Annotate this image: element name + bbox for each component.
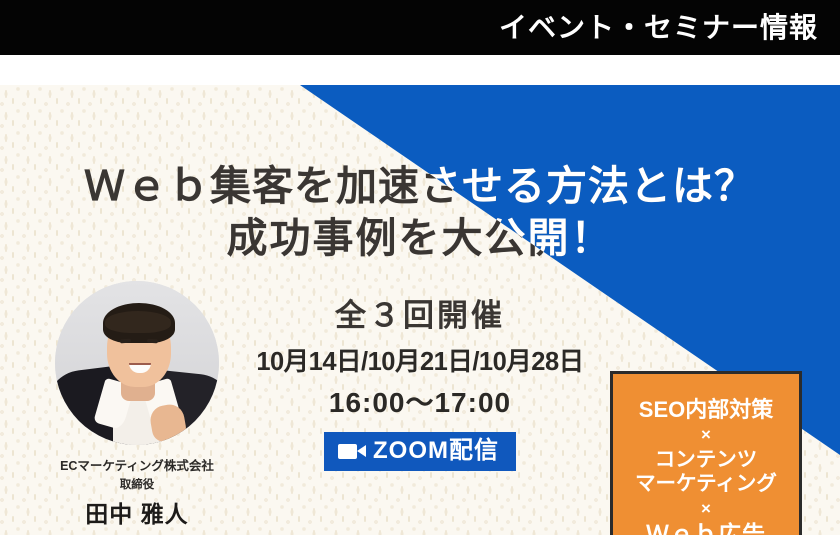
speaker-name: 田中 雅人 (42, 495, 232, 529)
session-count: 全３回開催 (236, 290, 604, 335)
topic-separator-1: × (701, 422, 711, 448)
schedule-block: 全３回開催 10月14日/10月21日/10月28日 16:00〜17:00 Z… (236, 290, 604, 471)
speaker-role: 取締役 (42, 476, 232, 492)
speaker-block: ECマーケティング株式会社 取締役 田中 雅人 (42, 281, 232, 529)
speaker-company: ECマーケティング株式会社 (42, 455, 232, 474)
topic-separator-2: × (701, 496, 711, 522)
speaker-portrait (55, 281, 219, 445)
event-seminar-banner: イベント・セミナー情報 Ｗｅｂ集客を加速させる方法とは？ 成功事例を大公開！ Ｗ… (0, 0, 840, 560)
portrait-eye-right (147, 339, 158, 343)
topic-line-2: コンテンツ (655, 448, 758, 472)
portrait-hair-highlight (105, 311, 171, 333)
header-ribbon-label: イベント・セミナー情報 (499, 14, 818, 42)
main-panel: Ｗｅｂ集客を加速させる方法とは？ 成功事例を大公開！ Ｗｅｂ集客を加速させる方法… (0, 85, 840, 535)
topic-line-1: SEO内部対策 (639, 398, 773, 422)
topic-line-4: Ｗｅｂ広告 (646, 522, 766, 535)
topic-line-3: マーケティング (635, 472, 777, 496)
zoom-badge-label: ZOOM配信 (373, 439, 499, 463)
header-ribbon: イベント・セミナー情報 (0, 0, 840, 55)
session-hours: 16:00〜17:00 (236, 381, 604, 421)
zoom-broadcast-badge[interactable]: ZOOM配信 (324, 432, 516, 471)
session-dates: 10月14日/10月21日/10月28日 (236, 341, 604, 378)
video-camera-icon (338, 443, 366, 460)
topic-box: SEO内部対策 × コンテンツ マーケティング × Ｗｅｂ広告 (610, 371, 802, 535)
